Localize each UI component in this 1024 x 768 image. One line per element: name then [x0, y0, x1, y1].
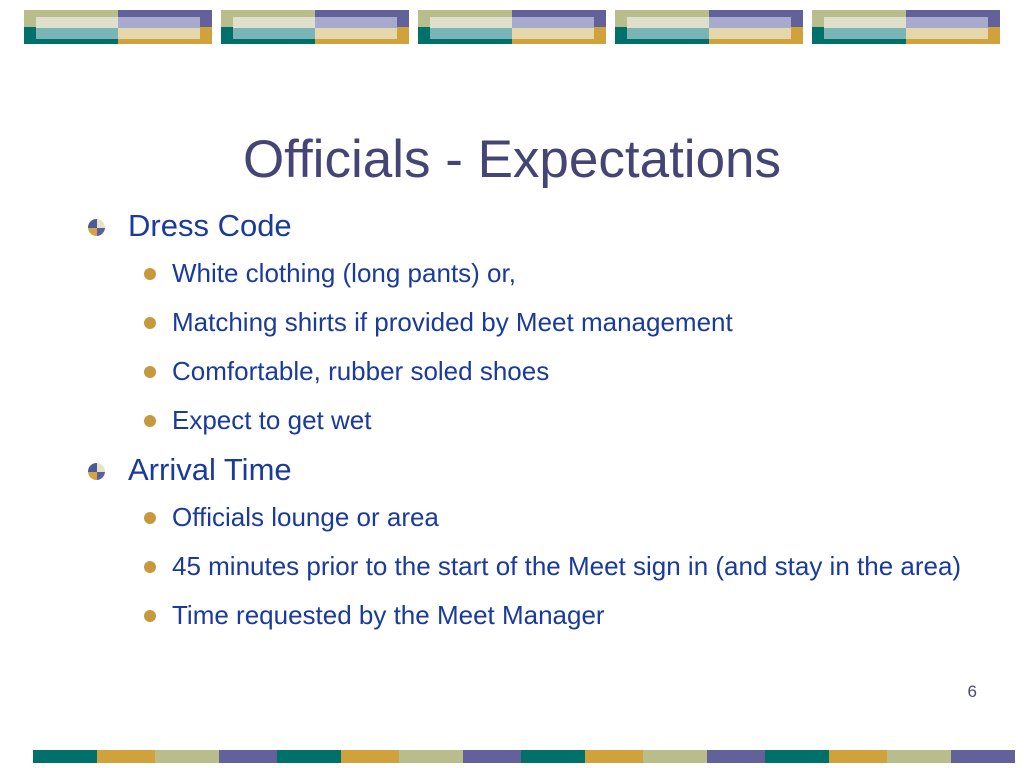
list-item: Expect to get wet — [80, 397, 980, 444]
goldenrod-segment — [97, 750, 161, 763]
bottom-decoration-block — [765, 750, 893, 763]
section-heading-label: Dress Code — [128, 208, 292, 243]
teal-segment — [33, 750, 97, 763]
goldenrod-segment — [829, 750, 893, 763]
bottom-decoration-block — [887, 750, 1015, 763]
khaki-segment — [399, 750, 463, 763]
goldenrod-segment — [585, 750, 649, 763]
decoration-right-half — [315, 10, 409, 44]
decoration-left-half — [24, 10, 118, 44]
teal-segment — [765, 750, 829, 763]
list-item-label: White clothing (long pants) or, — [172, 258, 516, 288]
periwinkle-inner-band — [906, 17, 988, 28]
round-bullet-icon — [144, 415, 156, 427]
tan-inner-band — [118, 28, 200, 39]
section-heading-arrival-time: Arrival Time — [80, 450, 980, 490]
purple-segment — [219, 750, 283, 763]
tan-inner-band — [315, 28, 397, 39]
round-bullet-icon — [144, 512, 156, 524]
section-heading-label: Arrival Time — [128, 452, 292, 487]
decoration-left-half — [812, 10, 906, 44]
periwinkle-inner-band — [709, 17, 791, 28]
round-bullet-icon — [144, 366, 156, 378]
light-teal-inner-band — [36, 28, 118, 39]
bottom-decoration-block — [399, 750, 527, 763]
slide: Officials - Expectations Dress Code Whit… — [0, 0, 1024, 768]
slide-body: Dress Code White clothing (long pants) o… — [80, 200, 980, 641]
bottom-decoration-strip — [0, 744, 1024, 768]
khaki-segment — [643, 750, 707, 763]
list-item-label: Comfortable, rubber soled shoes — [172, 356, 549, 386]
pinwheel-quadrant-top-left — [88, 219, 97, 228]
list-item-label: Expect to get wet — [172, 405, 371, 435]
light-teal-inner-band — [233, 28, 315, 39]
list-item: Time requested by the Meet Manager — [80, 592, 980, 639]
top-decoration-block — [418, 10, 606, 44]
decoration-right-half — [709, 10, 803, 44]
tan-inner-band — [709, 28, 791, 39]
pinwheel-quadrant-bottom-right — [97, 472, 106, 481]
top-decoration-strip — [0, 0, 1024, 56]
top-decoration-block — [24, 10, 212, 44]
bottom-decoration-block — [33, 750, 161, 763]
purple-segment — [463, 750, 527, 763]
list-item: Matching shirts if provided by Meet mana… — [80, 299, 980, 346]
khaki-segment — [887, 750, 951, 763]
decoration-right-half — [118, 10, 212, 44]
round-bullet-icon — [144, 268, 156, 280]
cream-inner-band — [36, 17, 118, 28]
section-heading-dress-code: Dress Code — [80, 206, 980, 246]
decoration-right-half — [906, 10, 1000, 44]
bottom-decoration-block — [521, 750, 649, 763]
light-teal-inner-band — [430, 28, 512, 39]
page-title: Officials - Expectations — [0, 132, 1024, 188]
round-bullet-icon — [144, 317, 156, 329]
decoration-left-half — [418, 10, 512, 44]
round-bullet-icon — [144, 610, 156, 622]
pinwheel-quadrant-top-left — [88, 463, 97, 472]
list-item-label: Matching shirts if provided by Meet mana… — [172, 307, 733, 337]
top-decoration-block — [812, 10, 1000, 44]
periwinkle-inner-band — [315, 17, 397, 28]
list-item-label: 45 minutes prior to the start of the Mee… — [172, 551, 961, 581]
bottom-decoration-block — [155, 750, 283, 763]
top-decoration-block — [221, 10, 409, 44]
teal-segment — [277, 750, 341, 763]
list-item-label: Officials lounge or area — [172, 502, 439, 532]
list-item: White clothing (long pants) or, — [80, 250, 980, 297]
cream-inner-band — [233, 17, 315, 28]
pinwheel-quadrant-bottom-left — [88, 472, 97, 481]
list-item: 45 minutes prior to the start of the Mee… — [80, 543, 980, 590]
decoration-left-half — [615, 10, 709, 44]
pinwheel-bullet-icon — [88, 219, 105, 236]
pinwheel-quadrant-bottom-left — [88, 228, 97, 237]
cream-inner-band — [430, 17, 512, 28]
decoration-right-half — [512, 10, 606, 44]
tan-inner-band — [906, 28, 988, 39]
top-decoration-block — [615, 10, 803, 44]
pinwheel-quadrant-top-right — [97, 463, 106, 472]
tan-inner-band — [512, 28, 594, 39]
light-teal-inner-band — [824, 28, 906, 39]
purple-segment — [951, 750, 1015, 763]
bottom-decoration-block — [643, 750, 771, 763]
list-item: Officials lounge or area — [80, 494, 980, 541]
light-teal-inner-band — [627, 28, 709, 39]
pinwheel-quadrant-bottom-right — [97, 228, 106, 237]
cream-inner-band — [627, 17, 709, 28]
cream-inner-band — [824, 17, 906, 28]
pinwheel-bullet-icon — [88, 463, 105, 480]
page-number: 6 — [968, 682, 977, 702]
bottom-decoration-block — [277, 750, 405, 763]
pinwheel-quadrant-top-right — [97, 219, 106, 228]
teal-segment — [521, 750, 585, 763]
goldenrod-segment — [341, 750, 405, 763]
decoration-left-half — [221, 10, 315, 44]
round-bullet-icon — [144, 561, 156, 573]
list-item: Comfortable, rubber soled shoes — [80, 348, 980, 395]
periwinkle-inner-band — [512, 17, 594, 28]
khaki-segment — [155, 750, 219, 763]
purple-segment — [707, 750, 771, 763]
periwinkle-inner-band — [118, 17, 200, 28]
list-item-label: Time requested by the Meet Manager — [172, 600, 605, 630]
